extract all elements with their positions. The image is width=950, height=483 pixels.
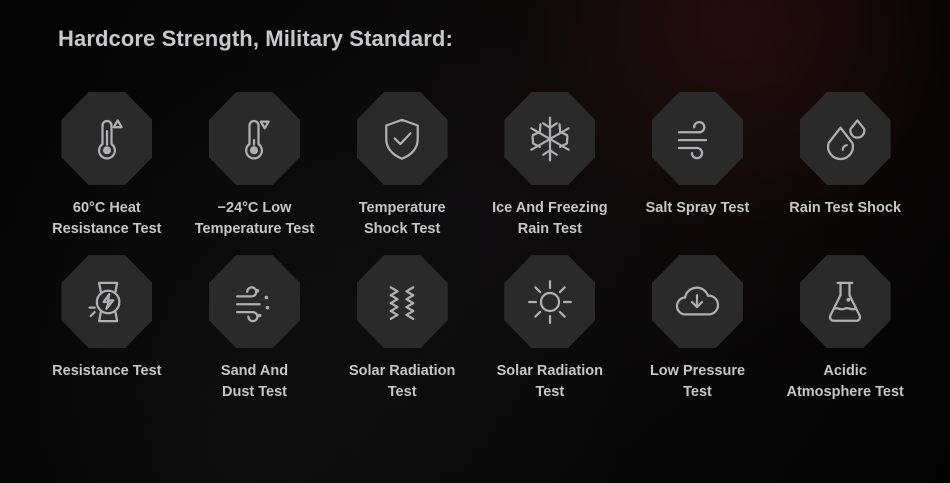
test-item-low-temperature: −24°C Low Temperature Test bbox=[181, 92, 329, 239]
snowflake-icon bbox=[504, 92, 595, 185]
flask-icon bbox=[800, 255, 891, 348]
spec-panel: Hardcore Strength, Military Standard: 60… bbox=[0, 0, 950, 483]
test-label: Temperature Shock Test bbox=[359, 198, 446, 239]
test-item-solar-radiation: Solar Radiation Test bbox=[476, 255, 624, 402]
watch-shock-icon bbox=[61, 255, 152, 348]
test-grid: 60°C Heat Resistance Test −24°C Low Temp… bbox=[33, 92, 919, 402]
test-label: Solar Radiation Test bbox=[349, 361, 455, 402]
test-item-freezing-rain: Ice And Freezing Rain Test bbox=[476, 92, 624, 239]
thermometer-high-icon bbox=[61, 92, 152, 185]
test-label: 60°C Heat Resistance Test bbox=[52, 198, 161, 239]
test-item-acidic-atmosphere: Acidic Atmosphere Test bbox=[771, 255, 919, 402]
test-item-temperature-shock: Temperature Shock Test bbox=[328, 92, 476, 239]
test-label: Acidic Atmosphere Test bbox=[786, 361, 903, 402]
test-item-rain-shock: Rain Test Shock bbox=[771, 92, 919, 239]
water-droplets-icon bbox=[800, 92, 891, 185]
sand-dust-wind-icon bbox=[209, 255, 300, 348]
thermometer-low-icon bbox=[209, 92, 300, 185]
test-item-sand-dust: Sand And Dust Test bbox=[181, 255, 329, 402]
test-label: Solar Radiation Test bbox=[497, 361, 603, 402]
test-item-vibration: Solar Radiation Test bbox=[328, 255, 476, 402]
test-label: Salt Spray Test bbox=[646, 198, 750, 219]
test-item-heat-resistance: 60°C Heat Resistance Test bbox=[33, 92, 181, 239]
test-label: −24°C Low Temperature Test bbox=[195, 198, 315, 239]
page-title: Hardcore Strength, Military Standard: bbox=[58, 26, 453, 52]
shield-check-icon bbox=[357, 92, 448, 185]
test-item-salt-spray: Salt Spray Test bbox=[624, 92, 772, 239]
test-item-low-pressure: Low Pressure Test bbox=[624, 255, 772, 402]
sun-icon bbox=[504, 255, 595, 348]
test-label: Low Pressure Test bbox=[650, 361, 745, 402]
test-label: Sand And Dust Test bbox=[221, 361, 288, 402]
test-item-shock-resistance: Resistance Test bbox=[33, 255, 181, 402]
wind-icon bbox=[652, 92, 743, 185]
test-label: Resistance Test bbox=[52, 361, 161, 382]
test-label: Rain Test Shock bbox=[789, 198, 901, 219]
cloud-down-arrow-icon bbox=[652, 255, 743, 348]
vibration-icon bbox=[357, 255, 448, 348]
test-label: Ice And Freezing Rain Test bbox=[492, 198, 607, 239]
